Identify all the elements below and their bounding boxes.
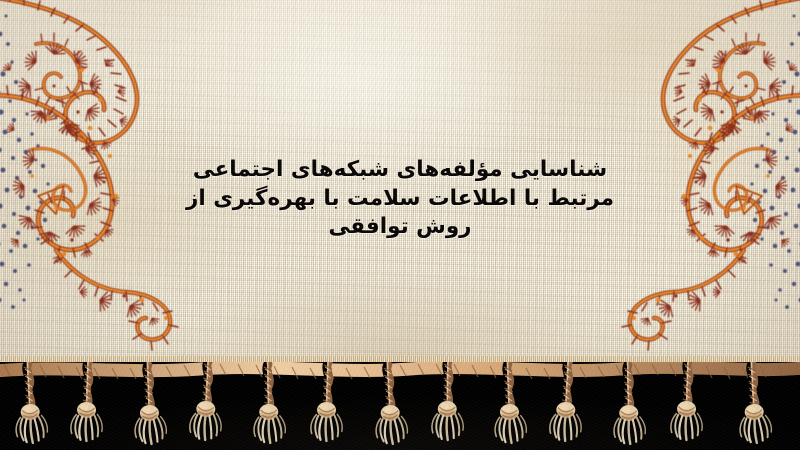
title-line-3: روش توافقی xyxy=(0,213,800,242)
title-line-2: مرتبط با اطلاعات سلامت با بهره‌گیری از xyxy=(0,185,800,214)
rope-fringe-icon xyxy=(0,362,800,450)
tassel-fringe xyxy=(0,362,800,450)
slide-title: شناسایی مؤلفه‌های شبکه‌های اجتماعی مرتبط… xyxy=(0,156,800,242)
slide-canvas: شناسایی مؤلفه‌های شبکه‌های اجتماعی مرتبط… xyxy=(0,0,800,450)
title-line-1: شناسایی مؤلفه‌های شبکه‌های اجتماعی xyxy=(0,156,800,185)
